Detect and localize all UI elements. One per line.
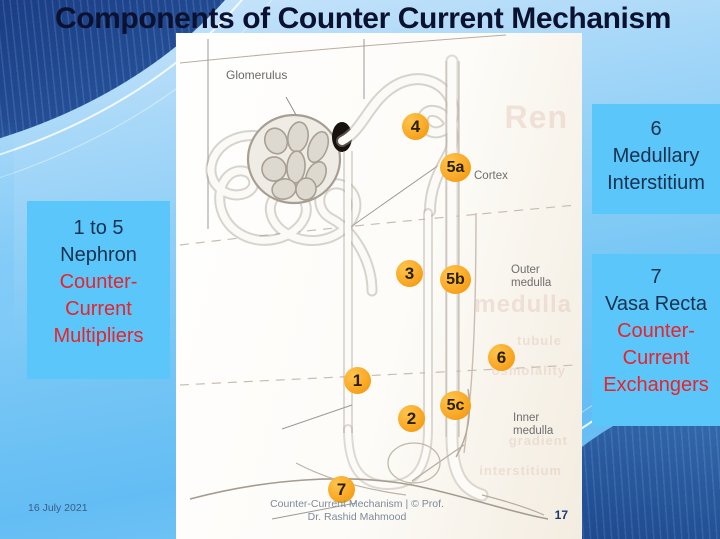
inner-medulla-label-line2: medulla [513, 425, 553, 438]
inner-medulla-label: Inner medulla [513, 412, 553, 438]
diagram-caption: Counter-Current Mechanism | © Prof. Dr. … [192, 498, 522, 524]
right-bottom-box-line-3: Counter- [592, 318, 720, 345]
outer-medulla-label-line1: Outer [511, 264, 551, 277]
right-top-box-line-3: Interstitium [592, 170, 720, 197]
right-bottom-box-line-5: Exchangers [592, 372, 720, 399]
left-box-line-1: 1 to 5 [27, 215, 170, 242]
left-box-line-5: Multipliers [27, 323, 170, 350]
left-callout-box: 1 to 5 Nephron Counter- Current Multipli… [27, 201, 170, 379]
right-bottom-callout-box: 7 Vasa Recta Counter- Current Exchangers [592, 254, 720, 426]
right-bottom-box-line-2: Vasa Recta [592, 291, 720, 318]
marker-5c[interactable]: 5c [440, 391, 471, 420]
right-top-box-line-1: 6 [592, 116, 720, 143]
left-light-band [0, 120, 14, 420]
right-top-callout-box: 6 Medullary Interstitium [592, 104, 720, 214]
inner-medulla-label-line1: Inner [513, 412, 553, 425]
marker-4[interactable]: 4 [402, 113, 429, 140]
caption-line-1: Counter-Current Mechanism | © Prof. [192, 498, 522, 511]
right-bottom-box-line-1: 7 [592, 264, 720, 291]
marker-2[interactable]: 2 [398, 405, 425, 432]
marker-3[interactable]: 3 [396, 260, 423, 287]
right-top-box-line-2: Medullary [592, 143, 720, 170]
slide-number: 17 [555, 508, 568, 522]
left-box-line-4: Current [27, 296, 170, 323]
slide: Components of Counter Current Mechanism … [0, 0, 720, 539]
slide-date: 16 July 2021 [28, 502, 88, 514]
marker-5a[interactable]: 5a [440, 153, 471, 182]
caption-line-2: Dr. Rashid Mahmood [192, 511, 522, 524]
marker-5b[interactable]: 5b [440, 265, 471, 294]
nephron-diagram-panel: Ren medulla tubule osmolality gradient i… [176, 33, 582, 539]
marker-1[interactable]: 1 [344, 367, 371, 394]
marker-6[interactable]: 6 [488, 344, 515, 371]
outer-medulla-label-line2: medulla [511, 277, 551, 290]
glomerulus-label: Glomerulus [226, 69, 287, 82]
outer-medulla-label: Outer medulla [511, 264, 551, 290]
page-title: Components of Counter Current Mechanism [10, 2, 716, 36]
left-box-line-2: Nephron [27, 242, 170, 269]
right-bottom-box-line-4: Current [592, 345, 720, 372]
left-box-line-3: Counter- [27, 269, 170, 296]
cortex-label: Cortex [474, 170, 508, 183]
